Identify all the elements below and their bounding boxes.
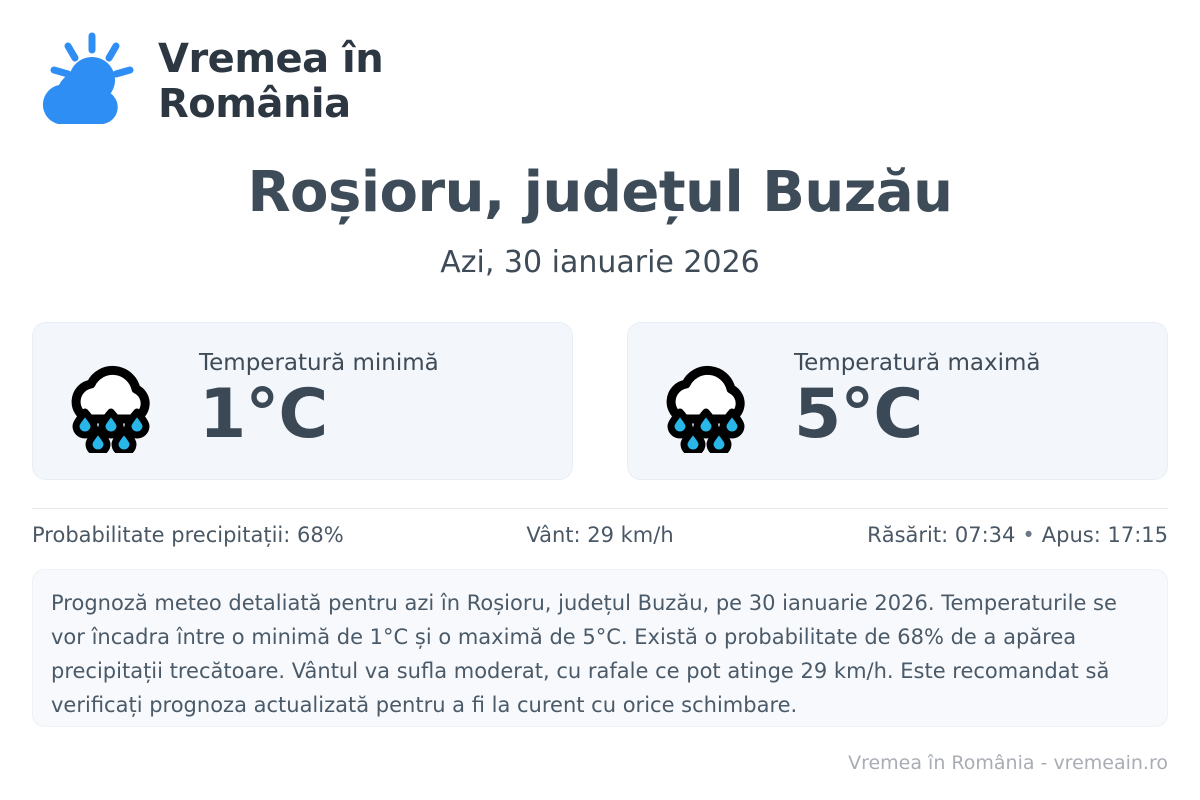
min-temperature-label: Temperatură minimă: [199, 351, 439, 376]
sunset-value: Apus: 17:15: [1042, 523, 1168, 547]
min-temperature-card: Temperatură minimă 1°C: [32, 322, 573, 480]
wind-stat: Vânt: 29 km/h: [411, 523, 790, 547]
min-temperature-value: 1°C: [199, 379, 439, 450]
sun-times-separator: •: [1015, 523, 1041, 547]
footer-credit: Vremea în România - vremeain.ro: [848, 752, 1168, 774]
forecast-description: Prognoză meteo detaliată pentru azi în R…: [32, 569, 1168, 727]
brand-name: Vremea în România: [158, 37, 383, 127]
max-temperature-value: 5°C: [794, 379, 1040, 450]
temperature-cards: Temperatură minimă 1°C Temperatură maxim…: [32, 322, 1168, 480]
max-temperature-text: Temperatură maximă 5°C: [794, 351, 1040, 450]
page-title: Roșioru, județul Buzău: [32, 164, 1168, 223]
min-temperature-text: Temperatură minimă 1°C: [199, 351, 439, 450]
sun-times-stat: Răsărit: 07:34•Apus: 17:15: [789, 523, 1168, 547]
rain-cloud-icon: [654, 349, 772, 453]
max-temperature-card: Temperatură maximă 5°C: [627, 322, 1168, 480]
rain-cloud-icon: [59, 349, 177, 453]
sun-behind-cloud-icon: [32, 30, 136, 134]
precipitation-stat: Probabilitate precipitații: 68%: [32, 523, 411, 547]
weather-page: Vremea în România Roșioru, județul Buzău…: [0, 0, 1200, 800]
max-temperature-label: Temperatură maximă: [794, 351, 1040, 376]
sunrise-value: Răsărit: 07:34: [867, 523, 1015, 547]
stats-row: Probabilitate precipitații: 68% Vânt: 29…: [32, 509, 1168, 561]
date-subtitle: Azi, 30 ianuarie 2026: [32, 245, 1168, 280]
brand-header: Vremea în România: [32, 0, 1168, 118]
